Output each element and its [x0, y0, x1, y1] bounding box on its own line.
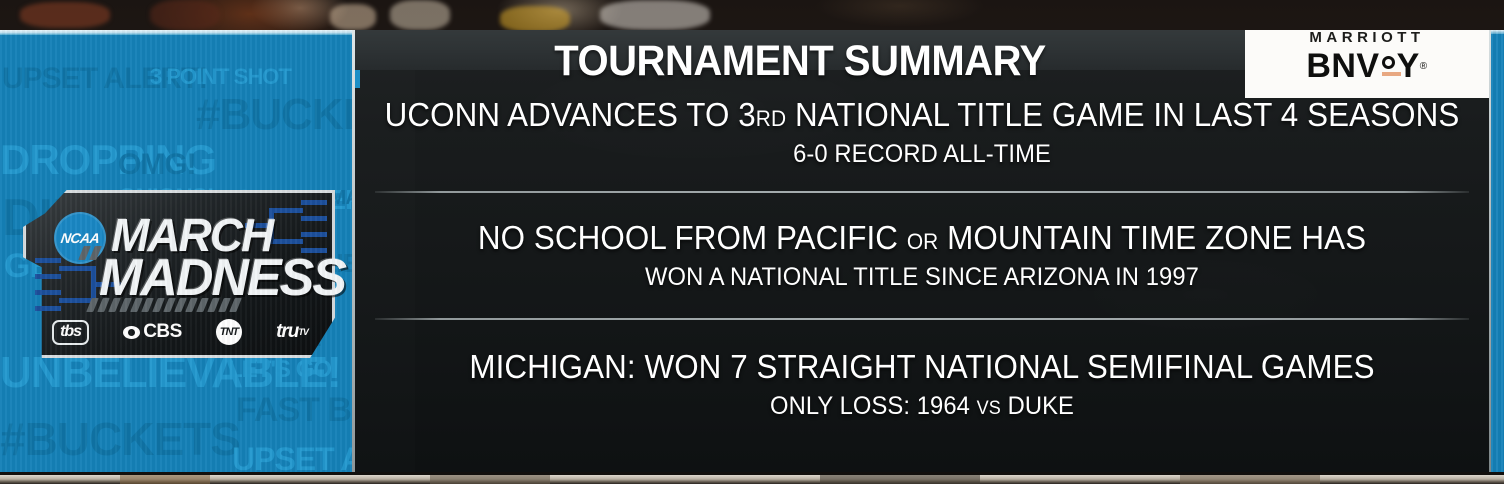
stat-subline: ONLY LOSS: 1964 VS DUKE — [383, 392, 1460, 421]
cbs-logo: CBS — [123, 321, 182, 343]
crowd-blur — [0, 0, 760, 32]
stat-block-time-zone: NO SCHOOL FROM PACIFIC OR MOUNTAIN TIME … — [355, 193, 1489, 318]
stat-subline-small: VS — [977, 398, 1001, 419]
stat-subline: 6-0 RECORD ALL-TIME — [383, 140, 1460, 169]
stat-headline-small: OR — [907, 229, 939, 254]
summary-panel: TOURNAMENT SUMMARY MARRIOTT BNVY® UCONN … — [355, 30, 1489, 472]
right-blue-strip — [1491, 30, 1504, 472]
slash-accents-lower — [89, 298, 239, 312]
watermark-text: #BUCKETS — [196, 96, 352, 133]
cbs-label: CBS — [143, 321, 182, 343]
watermark-text: 3 POINT SHOT — [150, 68, 291, 87]
march-madness-logo: NCAA MARCH MADNESS tbs CBS TNT truTV — [23, 190, 335, 358]
ncaa-label: NCAA — [60, 230, 101, 246]
header-accent-tick — [355, 70, 360, 88]
sponsor-line-marriott: MARRIOTT — [1309, 30, 1424, 46]
stat-headline: MICHIGAN: WON 7 STRAIGHT NATIONAL SEMIFI… — [383, 348, 1460, 386]
stat-headline: NO SCHOOL FROM PACIFIC OR MOUNTAIN TIME … — [383, 219, 1460, 257]
march-madness-side-panel: UPSET ALERT!3 POINT SHOTDROPPINGOMG!ONIO… — [0, 30, 352, 472]
stat-block-uconn: UCONN ADVANCES TO 3RD NATIONAL TITLE GAM… — [355, 88, 1489, 191]
tnt-logo: TNT — [216, 319, 242, 345]
sponsor-line-bonvoy: BNVY® — [1306, 47, 1427, 86]
watermark-text: OMG! — [118, 152, 196, 178]
watermark-text: UPSET ALERT — [232, 446, 352, 472]
page-title: TOURNAMENT SUMMARY — [386, 30, 1214, 96]
registered-mark: ® — [1420, 61, 1428, 72]
watermark-text: #BUCKETS — [0, 420, 240, 459]
stat-headline-small: RD — [756, 106, 786, 131]
bonvoy-o-circle-icon — [1382, 56, 1395, 69]
bonvoy-b: B — [1306, 47, 1331, 86]
bonvoy-y: Y — [1397, 47, 1420, 86]
broadcast-graphic: UPSET ALERT!3 POINT SHOTDROPPINGOMG!ONIO… — [0, 0, 1504, 484]
slash-accents-upper — [81, 246, 99, 260]
cbs-eye-icon — [123, 326, 140, 339]
watermark-text: FAST BREAK — [236, 396, 352, 425]
watermark-text: UNBELIEVABLE! — [0, 354, 341, 391]
bonvoy-nv: NV — [1331, 47, 1379, 86]
stat-headline-b: NATIONAL TITLE GAME IN LAST 4 SEASONS — [786, 96, 1459, 133]
stat-headline: UCONN ADVANCES TO 3RD NATIONAL TITLE GAM… — [383, 96, 1460, 134]
stat-headline-a: NO SCHOOL FROM PACIFIC — [478, 219, 907, 256]
trutv-label: tru — [276, 321, 298, 343]
stat-subline-a: ONLY LOSS: 1964 — [770, 392, 977, 420]
network-logos: tbs CBS TNT truTV — [35, 318, 325, 346]
bottom-video-bleed — [0, 475, 1504, 484]
stat-list: UCONN ADVANCES TO 3RD NATIONAL TITLE GAM… — [355, 88, 1489, 441]
trutv-logo: truTV — [276, 321, 308, 343]
trutv-sup: TV — [298, 327, 308, 337]
stat-headline-b: MOUNTAIN TIME ZONE HAS — [938, 219, 1366, 256]
stat-headline-a: UCONN ADVANCES TO 3 — [385, 96, 756, 133]
tbs-logo: tbs — [52, 320, 89, 345]
stat-subline-b: DUKE — [1001, 392, 1074, 420]
stat-subline: WON A NATIONAL TITLE SINCE ARIZONA IN 19… — [383, 263, 1460, 292]
stat-block-michigan: MICHIGAN: WON 7 STRAIGHT NATIONAL SEMIFI… — [355, 320, 1489, 441]
